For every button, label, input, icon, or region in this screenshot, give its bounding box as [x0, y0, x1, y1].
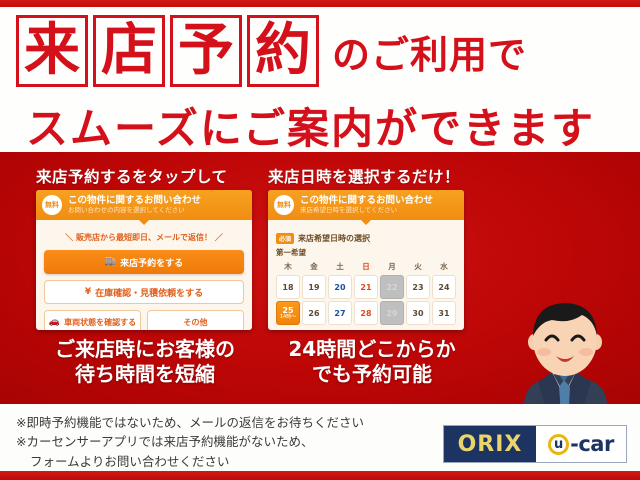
calendar-day[interactable]: 31	[432, 301, 456, 325]
inquiry-card-header: 無料 この物件に関するお問い合わせ お問い合わせの内容を選択してください	[36, 190, 252, 220]
calendar-day[interactable]: 24	[432, 275, 456, 299]
dow-sun: 日	[354, 261, 378, 273]
dow-tue: 火	[406, 261, 430, 273]
reply-promo-text: ＼ 販売店から最短即日、メールで返信！ ／	[44, 232, 244, 243]
car-icon: 🚗	[49, 317, 60, 327]
calendar-day[interactable]: 18	[276, 275, 300, 299]
dow-sat: 土	[328, 261, 352, 273]
ucar-text: -car	[570, 432, 614, 456]
right-benefit-line-1: 24時間どこからか	[272, 337, 472, 362]
left-benefit-caption: ご来店時にお客様の 待ち時間を短縮	[20, 337, 270, 387]
headline-kanji-3: 予	[170, 15, 242, 87]
calendar-dow-row: 木 金 土 日 月 火 水	[276, 261, 456, 273]
day-number: 26	[308, 309, 319, 318]
secondary-button-row: 🚗 車両状態を確認する その他	[44, 310, 244, 330]
headline-kanji-4: 約	[247, 15, 319, 87]
inquiry-card-subtitle: お問い合わせの内容を選択してください	[68, 207, 201, 214]
calendar-day[interactable]: 30	[406, 301, 430, 325]
calendar-day[interactable]: 20	[328, 275, 352, 299]
orix-ucar-logo: ORIX u -car	[443, 425, 627, 463]
day-number: 22	[386, 283, 397, 292]
stock-quote-label: 在庫確認・見積依頼をする	[95, 286, 203, 299]
day-number: 30	[412, 309, 423, 318]
day-number: 20	[334, 283, 345, 292]
vehicle-condition-button[interactable]: 🚗 車両状態を確認する	[44, 310, 141, 330]
calendar-field-label-row: 必須 来店希望日時の選択	[276, 233, 456, 244]
disclaimer-line-3: フォームよりお問い合わせください	[16, 452, 364, 471]
left-benefit-line-2: 待ち時間を短縮	[20, 362, 270, 387]
day-number: 23	[412, 283, 423, 292]
calendar-day[interactable]: 19	[302, 275, 326, 299]
day-number: 24	[438, 283, 449, 292]
calendar-day[interactable]: 28	[354, 301, 378, 325]
calendar-card: 無料 この物件に関するお問い合わせ 来店希望日時を選択してください 必須 来店希…	[268, 190, 464, 330]
headline-row-1: 来 店 予 約 のご利用で	[16, 15, 527, 87]
reserve-visit-label: 来店予約をする	[120, 256, 183, 269]
stock-quote-button[interactable]: ¥ 在庫確認・見積依頼をする	[44, 280, 244, 304]
u-ring-icon: u	[548, 434, 569, 455]
yen-icon: ¥	[85, 287, 91, 297]
calendar-day-selected[interactable]: 25 14時～	[276, 301, 300, 325]
disclaimer-line-1: ※即時予約機能ではないため、メールの返信をお待ちください	[16, 413, 364, 432]
dow-wed: 水	[432, 261, 456, 273]
calendar-field-label: 来店希望日時の選択	[298, 233, 370, 244]
top-rule	[0, 0, 640, 7]
headline-kanji-2: 店	[93, 15, 165, 87]
other-button[interactable]: その他	[147, 310, 244, 330]
day-number: 18	[282, 283, 293, 292]
calendar-card-body: 必須 来店希望日時の選択 第一希望 木 金 土 日 月 火 水 18 19 20	[268, 220, 464, 330]
other-label: その他	[184, 317, 208, 328]
headline-kanji-1: 来	[16, 15, 88, 87]
headline-block: 来 店 予 約 のご利用で スムーズにご案内ができます	[0, 7, 640, 152]
free-badge: 無料	[274, 195, 294, 215]
day-number: 19	[308, 283, 319, 292]
day-number: 27	[334, 309, 345, 318]
dow-mon: 月	[380, 261, 404, 273]
calendar-day-disabled: 22	[380, 275, 404, 299]
calendar-day[interactable]: 21	[354, 275, 378, 299]
vehicle-condition-label: 車両状態を確認する	[64, 317, 136, 328]
orix-wordmark: ORIX	[444, 426, 536, 462]
calendar-day-disabled: 29	[380, 301, 404, 325]
calendar-card-subtitle: 来店希望日時を選択してください	[300, 207, 433, 214]
left-panel-title: 来店予約するをタップして	[36, 165, 228, 187]
calendar-day[interactable]: 26	[302, 301, 326, 325]
promo-banner: 来 店 予 約 のご利用で スムーズにご案内ができます 来店予約するをタップして…	[0, 0, 640, 480]
reserve-visit-button[interactable]: 🏬 来店予約をする	[44, 250, 244, 274]
right-benefit-line-2: でも予約可能	[272, 362, 472, 387]
calendar-week-2: 25 14時～ 26 27 28 29 30 31	[276, 301, 456, 325]
day-number: 31	[438, 309, 449, 318]
right-benefit-caption: 24時間どこからか でも予約可能	[272, 337, 472, 387]
bottom-rule	[0, 471, 640, 480]
header-notch-icon	[139, 220, 149, 225]
day-number: 29	[386, 309, 397, 318]
header-notch-icon	[361, 220, 371, 225]
ucar-wordmark: u -car	[536, 426, 626, 462]
calendar-day[interactable]: 23	[406, 275, 430, 299]
headline-row-2: スムーズにご案内ができます	[26, 95, 595, 156]
disclaimer-line-2: ※カーセンサーアプリでは来店予約機能がないため、	[16, 432, 364, 451]
dow-thu: 木	[276, 261, 300, 273]
inquiry-card-body: ＼ 販売店から最短即日、メールで返信！ ／ 🏬 来店予約をする ¥ 在庫確認・見…	[36, 220, 252, 330]
store-icon: 🏬	[105, 257, 116, 267]
free-badge: 無料	[42, 195, 62, 215]
calendar-week-1: 18 19 20 21 22 23 24	[276, 275, 456, 299]
left-benefit-line-1: ご来店時にお客様の	[20, 337, 270, 362]
day-time-note: 14時～	[280, 315, 296, 320]
inquiry-form-card: 無料 この物件に関するお問い合わせ お問い合わせの内容を選択してください ＼ 販…	[36, 190, 252, 330]
headline-tail: のご利用で	[332, 24, 527, 79]
right-panel-title: 来店日時を選択するだけ！	[268, 165, 460, 187]
day-number: 21	[360, 283, 371, 292]
calendar-day[interactable]: 27	[328, 301, 352, 325]
day-number: 28	[360, 309, 371, 318]
calendar-card-header: 無料 この物件に関するお問い合わせ 来店希望日時を選択してください	[268, 190, 464, 220]
required-tag: 必須	[276, 233, 294, 244]
dow-fri: 金	[302, 261, 326, 273]
disclaimer-notes: ※即時予約機能ではないため、メールの返信をお待ちください ※カーセンサーアプリで…	[16, 413, 364, 471]
red-stage: 来店予約するをタップして 来店日時を選択するだけ！ 無料 この物件に関するお問い…	[0, 152, 640, 404]
first-choice-label: 第一希望	[276, 247, 456, 258]
